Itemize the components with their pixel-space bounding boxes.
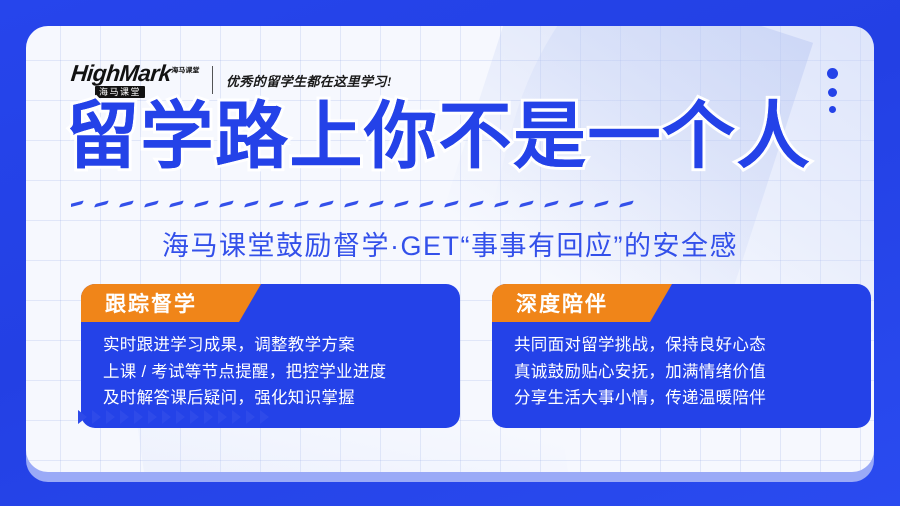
slash-dash-icon [344, 201, 359, 208]
slash-dash-icon [544, 201, 559, 208]
slash-dash-icon [419, 201, 434, 208]
card-line: 及时解答课后疑问，强化知识掌握 [103, 385, 438, 412]
card-body: 实时跟进学习成果，调整教学方案 上课 / 考试等节点提醒，把控学业进度 及时解答… [81, 328, 460, 412]
slash-divider [71, 196, 871, 212]
card-body: 共同面对留学挑战，保持良好心态 真诚鼓励贴心安抚，加满情绪价值 分享生活大事小情… [492, 328, 871, 412]
header-divider [212, 66, 213, 94]
card-line: 共同面对留学挑战，保持良好心态 [514, 332, 849, 359]
arrow-right-icon [176, 410, 185, 424]
dot-medium-icon [828, 88, 837, 97]
slash-dash-icon [194, 201, 209, 208]
slash-dash-icon [219, 201, 234, 208]
logo: HighMark海马课堂 海马课堂 [71, 62, 199, 98]
slash-dash-icon [494, 201, 509, 208]
arrow-right-icon [134, 410, 143, 424]
arrow-right-icon [232, 410, 241, 424]
arrow-right-icon [148, 410, 157, 424]
arrow-right-icon [204, 410, 213, 424]
card-title: 深度陪伴 [516, 288, 608, 318]
arrow-row [78, 410, 269, 424]
card-line: 分享生活大事小情，传递温暖陪伴 [514, 385, 849, 412]
slash-dash-icon [269, 201, 284, 208]
slash-dash-icon [94, 201, 109, 208]
slash-dash-icon [444, 201, 459, 208]
page-title: 留学路上你不是一个人 [66, 100, 874, 173]
card-line: 上课 / 考试等节点提醒，把控学业进度 [103, 359, 438, 386]
arrow-right-icon [78, 410, 87, 424]
slash-dash-icon [519, 201, 534, 208]
logo-superscript: 海马课堂 [171, 67, 200, 74]
logo-wordmark-text: HighMark [70, 60, 173, 86]
brand-tagline: 优秀的留学生都在这里学习! [226, 71, 392, 90]
slash-dash-icon [394, 201, 409, 208]
page-subtitle: 海马课堂鼓励督学·GET“事事有回应”的安全感 [26, 224, 874, 263]
slash-dash-icon [71, 201, 84, 208]
slash-dash-icon [169, 201, 184, 208]
arrow-right-icon [92, 410, 101, 424]
slash-dash-icon [319, 201, 334, 208]
card-line: 实时跟进学习成果，调整教学方案 [103, 332, 438, 359]
card-title: 跟踪督学 [105, 288, 197, 318]
slash-dash-icon [619, 201, 634, 208]
arrow-right-icon [106, 410, 115, 424]
card-header-badge: 深度陪伴 [492, 284, 672, 322]
card-line: 真诚鼓励贴心安抚，加满情绪价值 [514, 359, 849, 386]
arrow-right-icon [218, 410, 227, 424]
slash-dash-icon [244, 201, 259, 208]
slash-dash-icon [369, 201, 384, 208]
slash-dash-icon [294, 201, 309, 208]
logo-wordmark: HighMark海马课堂 [70, 62, 200, 85]
feature-cards: 跟踪督学 实时跟进学习成果，调整教学方案 上课 / 考试等节点提醒，把控学业进度… [81, 284, 871, 428]
dot-large-icon [827, 68, 838, 79]
promo-banner: HighMark海马课堂 海马课堂 优秀的留学生都在这里学习! 留学路上你不是一… [0, 0, 900, 506]
arrow-right-icon [190, 410, 199, 424]
feature-card: 深度陪伴 共同面对留学挑战，保持良好心态 真诚鼓励贴心安抚，加满情绪价值 分享生… [492, 284, 871, 428]
arrow-right-icon [162, 410, 171, 424]
arrow-right-icon [260, 410, 269, 424]
arrow-right-icon [120, 410, 129, 424]
slash-dash-icon [144, 201, 159, 208]
slash-dash-icon [119, 201, 134, 208]
card-header-badge: 跟踪督学 [81, 284, 261, 322]
slash-dash-icon [594, 201, 609, 208]
brand-header: HighMark海马课堂 海马课堂 优秀的留学生都在这里学习! [71, 62, 392, 98]
slash-dash-icon [569, 201, 584, 208]
content-panel: HighMark海马课堂 海马课堂 优秀的留学生都在这里学习! 留学路上你不是一… [26, 26, 874, 472]
slash-dash-icon [469, 201, 484, 208]
feature-card: 跟踪督学 实时跟进学习成果，调整教学方案 上课 / 考试等节点提醒，把控学业进度… [81, 284, 460, 428]
arrow-right-icon [246, 410, 255, 424]
